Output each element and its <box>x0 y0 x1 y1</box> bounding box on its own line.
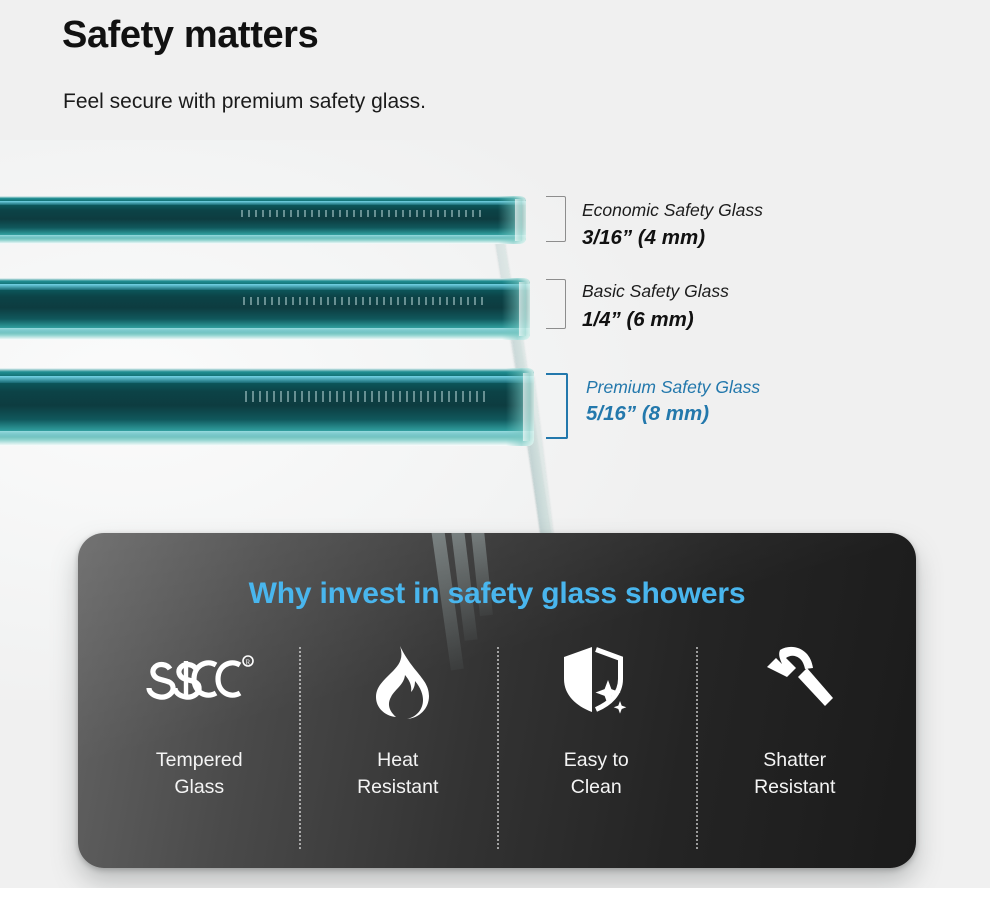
feature-label-line2: Resistant <box>357 774 438 801</box>
feature-label-line2: Clean <box>564 774 629 801</box>
callout-basic-kicker: Basic Safety Glass <box>582 281 729 302</box>
promo-banner: Safety matters Feel secure with premium … <box>0 0 990 910</box>
glass-slab-8mm <box>0 368 534 446</box>
page-subtitle: Feel secure with premium safety glass. <box>63 90 426 114</box>
feature-label-line1: Shatter <box>754 747 835 774</box>
feature-heat-resistant-label: Heat Resistant <box>357 747 438 800</box>
feature-label-line1: Tempered <box>156 747 243 774</box>
bracket-economic <box>546 196 566 242</box>
feature-label-line2: Glass <box>156 774 243 801</box>
feature-tempered-glass-label: Tempered Glass <box>156 747 243 800</box>
feature-tempered-glass: R Tempered Glass <box>100 643 299 843</box>
glass-slab-4mm <box>0 196 526 244</box>
svg-text:R: R <box>246 659 251 667</box>
callout-premium-size: 5/16” (8 mm) <box>586 402 709 426</box>
bracket-premium <box>546 373 568 439</box>
glass-slab-6mm <box>0 278 530 340</box>
feature-easy-to-clean: Easy to Clean <box>497 643 696 843</box>
bracket-basic <box>546 279 566 329</box>
feature-shatter-resistant: Shatter Resistant <box>696 643 895 843</box>
page-title: Safety matters <box>62 14 318 57</box>
callout-basic-size: 1/4” (6 mm) <box>582 308 694 332</box>
feature-label-line1: Heat <box>357 747 438 774</box>
bottom-strip <box>0 888 990 910</box>
callout-premium-kicker: Premium Safety Glass <box>586 377 760 398</box>
feature-label-line2: Resistant <box>754 774 835 801</box>
shield-sparkle-icon <box>558 643 634 721</box>
feature-list: R Tempered Glass Heat Resistant <box>100 643 894 843</box>
sgcc-certification-icon: R <box>140 643 258 721</box>
feature-easy-to-clean-label: Easy to Clean <box>564 747 629 800</box>
card-title: Why invest in safety glass showers <box>78 577 916 611</box>
feature-card: Why invest in safety glass showers <box>78 533 916 868</box>
feature-heat-resistant: Heat Resistant <box>299 643 498 843</box>
callout-economic-size: 3/16” (4 mm) <box>582 226 705 250</box>
hammer-icon <box>753 643 837 721</box>
callout-economic-kicker: Economic Safety Glass <box>582 200 763 221</box>
feature-shatter-resistant-label: Shatter Resistant <box>754 747 835 800</box>
flame-icon <box>367 643 429 721</box>
feature-label-line1: Easy to <box>564 747 629 774</box>
